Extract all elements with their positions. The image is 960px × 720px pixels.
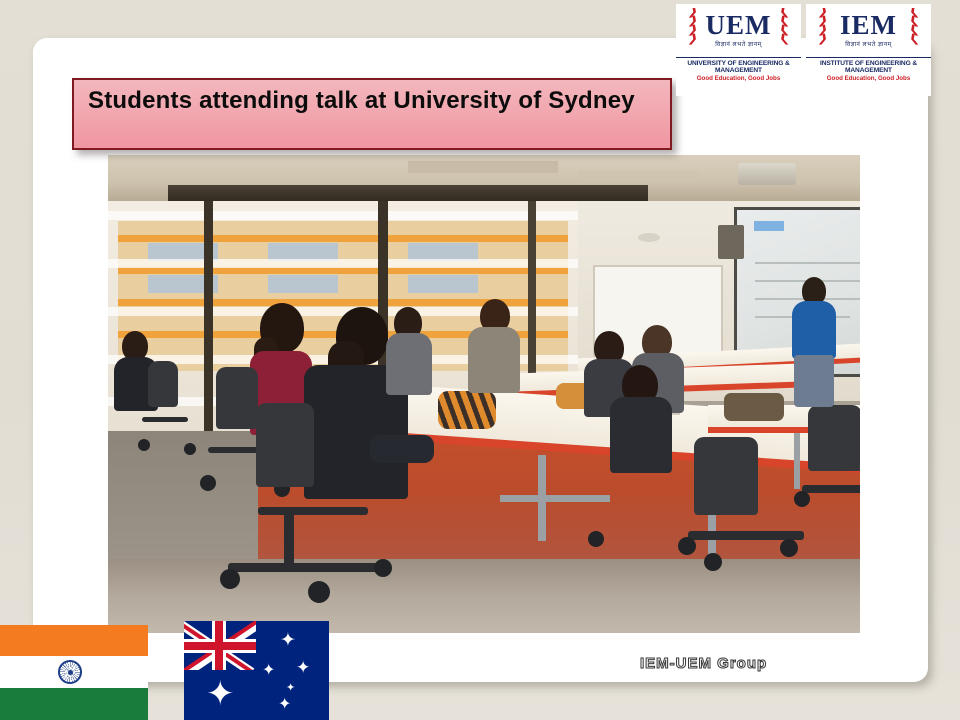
ashoka-chakra-hub [68,670,73,675]
photo-presenter-trousers [794,355,834,407]
australia-flag: ✦ ✦ ✦ ✦ ✦ ✦ [184,621,329,720]
photo-table-foot [500,495,610,502]
photo-student-arm [370,435,434,463]
photo-building-window [408,275,478,293]
page-title: Students attending talk at University of… [88,86,658,116]
photo-chair [256,403,314,487]
southern-cross-star-icon: ✦ [262,663,275,679]
photo-caster [704,553,722,571]
photo-chair [216,367,258,429]
photo-chair-base [142,417,188,422]
photo-student-body [610,397,672,473]
iem-tagline: Good Education, Good Jobs [806,75,931,82]
iem-full-name: INSTITUTE OF ENGINEERING & MANAGEMENT [806,57,931,74]
photo-chair-star [802,485,860,493]
photo-window-blind [108,211,578,220]
uem-logo-emblem: ❱❱❱❱ ❰❰❰❰ UEM विज्ञानं लभते ज्ञानम् [676,4,801,54]
photo-presenter-shirt [792,301,836,359]
photo-student-body [386,333,432,395]
uem-tagline: Good Education, Good Jobs [676,75,801,82]
photo-chair [148,361,178,407]
photo-window-blind [108,259,578,268]
iem-logo-emblem: ❱❱❱❱ ❰❰❰❰ IEM विज्ञानं लभते ज्ञानम् [806,4,931,54]
southern-cross-star-icon: ✦ [280,631,296,650]
photo-building-window [268,275,338,293]
photo-ceiling-tile [578,171,698,181]
photo-chair-column [284,511,294,569]
laurel-wreath-left-icon: ❱❱❱❱ [679,8,707,48]
photo-bag [724,393,784,421]
commonwealth-star-icon: ✦ [206,677,235,711]
india-flag [0,625,148,720]
union-jack-icon [184,621,256,670]
photo-caster [138,439,150,451]
laurel-wreath-right-icon: ❰❰❰❰ [900,8,928,48]
laurel-wreath-right-icon: ❰❰❰❰ [770,8,798,48]
photo-caster [220,569,240,589]
photo-ceiling-tile [408,161,558,173]
photo-table-leg [794,433,800,489]
photo-caster [184,443,196,455]
uem-logo: ❱❱❱❱ ❰❰❰❰ UEM विज्ञानं लभते ज्ञानम् UNIV… [676,4,801,96]
photo-caster [374,559,392,577]
photo-building-band [118,267,568,274]
southern-cross-star-icon: ✦ [286,683,295,694]
photo-student-body [468,327,520,393]
slide-title-box: Students attending talk at University of… [72,78,672,150]
southern-cross-star-icon: ✦ [296,659,310,676]
photo-caster [588,531,604,547]
photo-slide-line [755,262,860,264]
india-flag-saffron-band [0,625,148,656]
photo-building-band [118,235,568,242]
photo-window-mullion [204,201,213,431]
slide-footer: IEM-UEM Group [640,655,767,672]
union-jack-horizontal-red [184,642,256,650]
photo-wall-light [638,233,660,242]
photo-ceiling-projector [738,163,796,185]
photo-caster [308,581,330,603]
photo-chair [694,437,758,515]
photo-caster [200,475,216,491]
photo-caster [794,491,810,507]
india-flag-green-band [0,688,148,720]
photo-wall-speaker [718,225,744,259]
photo-chair-star [228,563,378,572]
photo-chair [808,405,860,471]
photo-striped-bag [438,391,496,429]
photo-caster [678,537,696,555]
iem-logo: ❱❱❱❱ ❰❰❰❰ IEM विज्ञानं लभते ज्ञानम् INST… [806,4,931,96]
classroom-photo [108,155,860,633]
laurel-wreath-left-icon: ❱❱❱❱ [809,8,837,48]
photo-caster [780,539,798,557]
uem-full-name: UNIVERSITY OF ENGINEERING & MANAGEMENT [676,57,801,74]
southern-cross-star-icon: ✦ [278,697,291,713]
photo-chair-base [258,507,368,515]
photo-slide-highlight [754,221,784,231]
